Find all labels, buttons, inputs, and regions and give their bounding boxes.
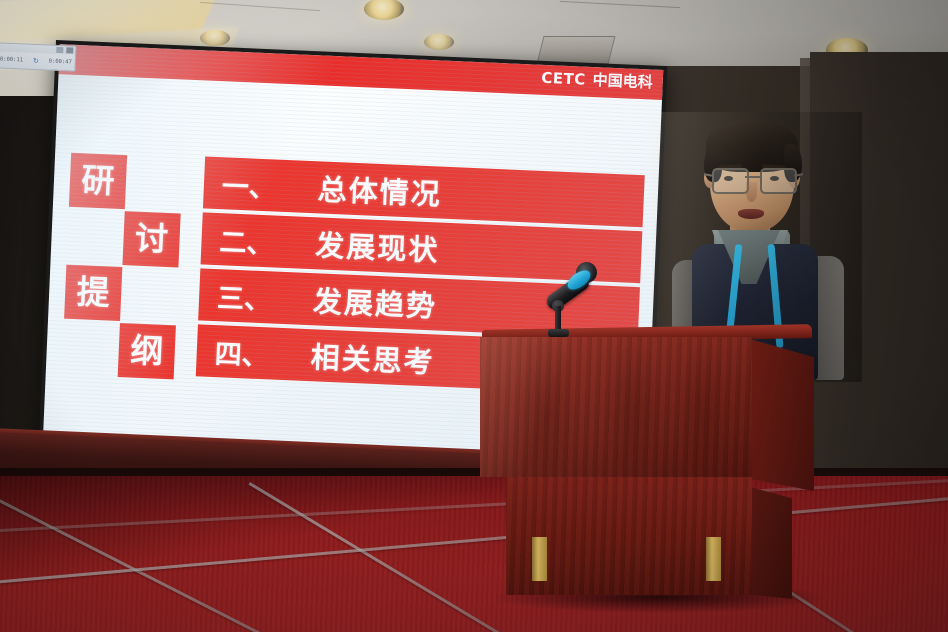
outline-item-number: 三、 — [198, 275, 314, 319]
lectern-brass-trim — [706, 537, 721, 581]
microphone — [536, 256, 616, 336]
lectern-base — [506, 475, 752, 595]
player-elapsed-time: 0:00:11 — [0, 56, 23, 63]
title-char-2: 讨 — [122, 211, 180, 267]
video-player-controls[interactable]: 0:00:11 ↻ 0:00:47 — [0, 42, 77, 71]
cetc-logo-latin: CETC — [541, 68, 586, 88]
replay-icon[interactable]: ↻ — [33, 56, 39, 64]
lectern — [480, 325, 822, 632]
photo-scene: CETC 中国电科 研 讨 提 纲 一、 总体情况 二、 — [0, 0, 948, 632]
outline-item-number: 一、 — [203, 163, 319, 207]
outline-item-label: 发展现状 — [315, 222, 441, 269]
lectern-sheen — [480, 337, 752, 477]
outline-item-label: 总体情况 — [317, 166, 443, 213]
lectern-side-panel — [750, 339, 814, 491]
lectern-front-panel — [480, 337, 752, 477]
mic-stand-base — [548, 329, 569, 337]
player-total-time: 0:00:47 — [49, 58, 72, 65]
title-char-4: 纲 — [118, 323, 176, 379]
outline-item-label: 相关思考 — [310, 334, 436, 381]
nose — [746, 182, 757, 202]
lens-right — [760, 168, 797, 194]
cetc-logo-chinese: 中国电科 — [592, 69, 653, 93]
lens-left — [712, 168, 749, 194]
lectern-base-side — [750, 487, 792, 599]
glasses-bridge — [745, 176, 761, 178]
minimize-icon[interactable] — [56, 47, 63, 53]
outline-item-number: 四、 — [196, 331, 312, 375]
close-icon[interactable] — [66, 47, 73, 53]
mouth — [738, 209, 764, 219]
outline-item-label: 发展趋势 — [312, 278, 438, 325]
lectern-brass-trim — [532, 537, 547, 581]
cetc-logo: CETC 中国电科 — [541, 67, 653, 93]
outline-item-number: 二、 — [201, 219, 317, 263]
title-char-1: 研 — [69, 153, 127, 209]
slide-title-characters: 研 讨 提 纲 — [60, 153, 197, 380]
title-char-3: 提 — [64, 265, 122, 321]
